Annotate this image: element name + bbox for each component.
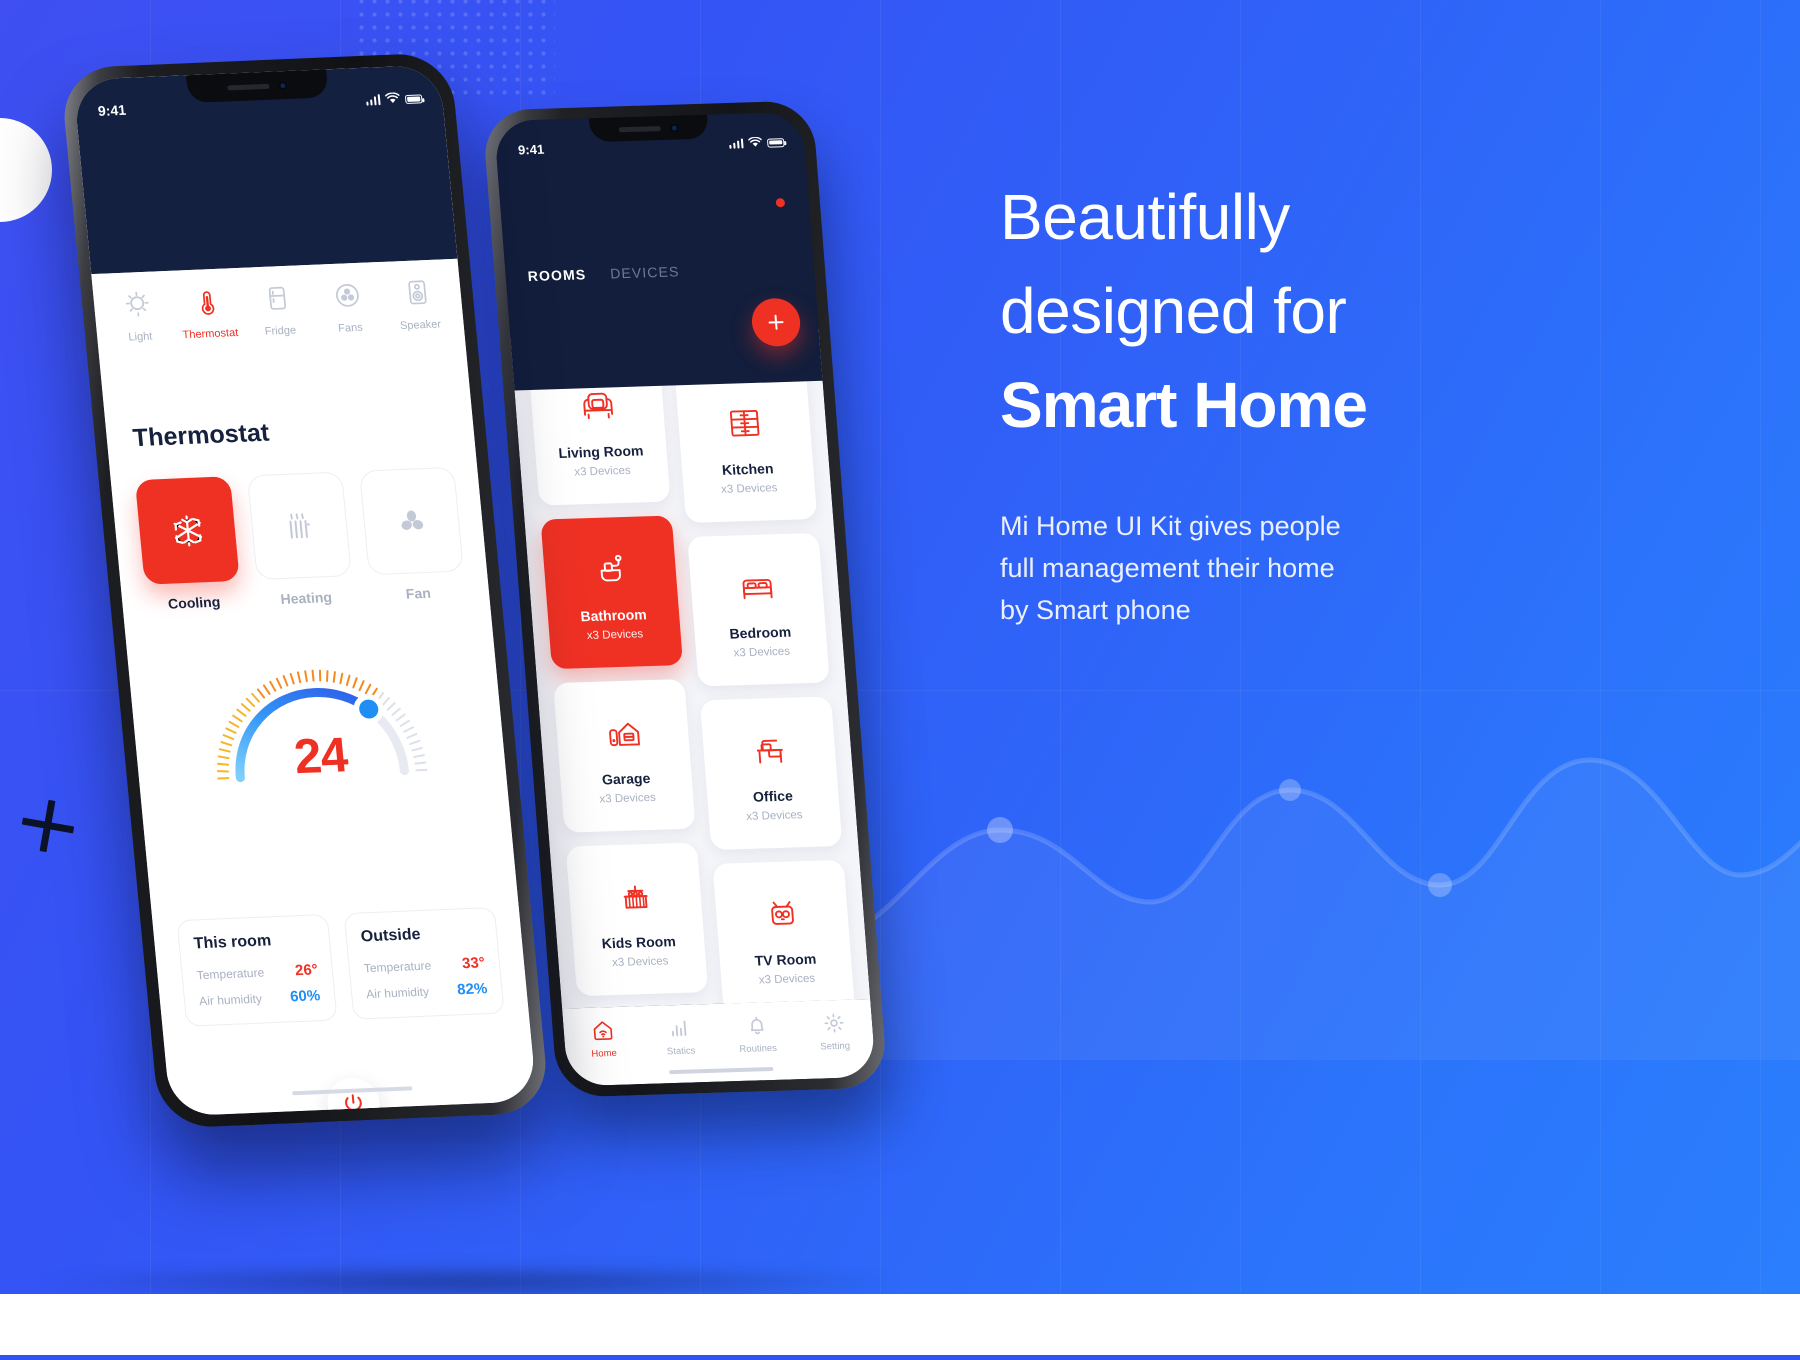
room-device-count: x3 Devices bbox=[746, 809, 803, 823]
room-card-bathroom[interactable]: Bathroomx3 Devices bbox=[540, 515, 683, 669]
room-name: TV Room bbox=[754, 951, 817, 969]
cabinet-icon bbox=[722, 397, 766, 450]
nav-item-home[interactable]: Home bbox=[563, 1016, 643, 1060]
info-row: Temperature26° bbox=[196, 961, 319, 983]
tv-icon bbox=[760, 887, 804, 940]
environment-cards: This roomTemperature26°Air humidity60%Ou… bbox=[176, 907, 504, 1027]
info-card-outside: OutsideTemperature33°Air humidity82% bbox=[344, 907, 505, 1020]
power-icon bbox=[341, 1092, 365, 1115]
room-name: Bathroom bbox=[580, 606, 647, 624]
marketing-copy: Beautifully designed for Smart Home Mi H… bbox=[1000, 170, 1560, 632]
mode-fan[interactable]: Fan bbox=[359, 467, 467, 603]
temperature-value: 24 bbox=[292, 727, 350, 785]
battery-icon bbox=[405, 94, 423, 104]
headline-line-1: Beautifully bbox=[1000, 170, 1560, 264]
subtext-line-1: Mi Home UI Kit gives people bbox=[1000, 506, 1560, 548]
garage-icon bbox=[601, 706, 645, 759]
info-row: Air humidity82% bbox=[365, 980, 488, 1002]
cellular-bars-icon bbox=[728, 138, 743, 148]
mode-label: Fan bbox=[370, 583, 467, 603]
room-device-count: x3 Devices bbox=[733, 646, 790, 660]
thermostat-body: Thermostat CoolingHeatingFan bbox=[102, 368, 537, 1116]
tab-rooms[interactable]: ROOMS bbox=[527, 266, 587, 284]
device-tab-fridge[interactable]: Fridge bbox=[240, 277, 316, 339]
room-name: Living Room bbox=[558, 442, 644, 461]
nav-item-setting[interactable]: Setting bbox=[794, 1009, 874, 1053]
device-tab-label: Thermostat bbox=[175, 327, 246, 342]
marketing-subtext: Mi Home UI Kit gives people full managem… bbox=[1000, 506, 1560, 632]
room-device-count: x3 Devices bbox=[574, 465, 631, 479]
info-card-title: This room bbox=[193, 930, 316, 953]
wifi-icon bbox=[748, 136, 763, 147]
room-card-tv-room[interactable]: TV Roomx3 Devices bbox=[712, 860, 855, 1009]
bottom-navigation: HomeStaticsRoutinesSetting bbox=[562, 999, 876, 1086]
info-key: Air humidity bbox=[199, 992, 263, 1009]
room-card-kitchen[interactable]: Kitchenx3 Devices bbox=[675, 369, 818, 523]
device-tab-fans[interactable]: Fans bbox=[311, 274, 387, 336]
desk-icon bbox=[747, 724, 791, 777]
device-tab-label: Light bbox=[105, 330, 176, 345]
info-row: Temperature33° bbox=[363, 954, 486, 976]
thermometer-icon bbox=[170, 280, 244, 323]
device-tab-thermostat[interactable]: Thermostat bbox=[170, 280, 246, 342]
notch-right bbox=[589, 115, 709, 143]
mode-selector: CoolingHeatingFan bbox=[135, 467, 466, 613]
wifi-icon bbox=[385, 92, 401, 105]
room-name: Office bbox=[752, 788, 793, 805]
room-device-count: x3 Devices bbox=[721, 482, 778, 496]
home-wifi-icon bbox=[563, 1016, 642, 1044]
subtext-line-2: full management their home bbox=[1000, 548, 1560, 590]
screen-home: 9:41 Home bbox=[494, 112, 876, 1087]
nav-item-routines[interactable]: Routines bbox=[717, 1011, 797, 1055]
room-card-office[interactable]: Officex3 Devices bbox=[700, 696, 843, 850]
device-tab-label: Fans bbox=[315, 321, 386, 336]
snowflake-icon bbox=[135, 476, 240, 585]
room-card-kids-room[interactable]: Kids Roomx3 Devices bbox=[566, 843, 709, 997]
power-button[interactable] bbox=[325, 1077, 382, 1117]
info-card-this-room: This roomTemperature26°Air humidity60% bbox=[176, 914, 337, 1027]
wave-decoration bbox=[820, 640, 1800, 1060]
plus-icon bbox=[766, 313, 785, 332]
nav-item-label: Routines bbox=[719, 1042, 797, 1055]
fridge-icon bbox=[240, 277, 314, 320]
info-row: Air humidity60% bbox=[198, 987, 321, 1009]
fan-blades-icon bbox=[359, 467, 464, 576]
nav-item-label: Statics bbox=[642, 1045, 720, 1058]
rooms-grid: Living Roomx3 DevicesKitchenx3 DevicesBa… bbox=[511, 329, 871, 1009]
status-icons-right bbox=[728, 136, 784, 149]
room-device-count: x3 Devices bbox=[612, 955, 669, 969]
device-tab-light[interactable]: Light bbox=[100, 283, 176, 345]
info-value: 26° bbox=[294, 961, 318, 979]
radiator-icon bbox=[247, 472, 352, 581]
bell-icon bbox=[717, 1011, 796, 1039]
gear-icon bbox=[794, 1009, 873, 1037]
room-name: Bedroom bbox=[729, 624, 792, 642]
room-device-count: x3 Devices bbox=[758, 973, 815, 987]
nav-item-statics[interactable]: Statics bbox=[640, 1014, 720, 1058]
info-card-title: Outside bbox=[360, 923, 483, 946]
bathtub-icon bbox=[588, 543, 632, 596]
info-key: Temperature bbox=[196, 966, 265, 983]
nav-item-label: Setting bbox=[796, 1040, 874, 1053]
mode-label: Cooling bbox=[146, 593, 243, 613]
bottom-accent-line bbox=[0, 1355, 1800, 1360]
room-card-garage[interactable]: Garagex3 Devices bbox=[553, 679, 696, 833]
room-device-count: x3 Devices bbox=[599, 792, 656, 806]
section-title: Thermostat bbox=[132, 419, 271, 454]
room-name: Garage bbox=[601, 770, 651, 787]
bar-chart-icon bbox=[640, 1014, 719, 1042]
speaker-icon bbox=[381, 271, 455, 314]
temperature-gauge: 24 − + bbox=[125, 617, 510, 831]
battery-icon bbox=[767, 138, 785, 148]
cellular-bars-icon bbox=[365, 94, 381, 106]
speaker-grill-icon bbox=[619, 126, 661, 132]
mode-label: Heating bbox=[258, 588, 355, 608]
mode-cooling[interactable]: Cooling bbox=[135, 476, 243, 612]
bottom-white-strip bbox=[0, 1294, 1800, 1360]
info-key: Air humidity bbox=[366, 985, 430, 1002]
info-value: 60% bbox=[289, 987, 321, 1005]
headline-line-3: Smart Home bbox=[1000, 358, 1560, 452]
info-value: 33° bbox=[461, 954, 485, 972]
room-device-count: x3 Devices bbox=[586, 628, 643, 642]
device-tab-label: Speaker bbox=[385, 318, 456, 333]
info-key: Temperature bbox=[363, 959, 432, 976]
status-icons-left bbox=[365, 91, 423, 105]
room-name: Kids Room bbox=[601, 933, 676, 951]
info-value: 82% bbox=[456, 980, 488, 998]
subtext-line-3: by Smart phone bbox=[1000, 590, 1560, 632]
bed-icon bbox=[735, 560, 779, 613]
room-card-bedroom[interactable]: Bedroomx3 Devices bbox=[687, 533, 830, 687]
status-time-left: 9:41 bbox=[97, 102, 127, 119]
status-time-right: 9:41 bbox=[517, 141, 544, 157]
device-tab-speaker[interactable]: Speaker bbox=[381, 271, 457, 333]
plus-decoration-icon bbox=[22, 800, 74, 852]
tab-devices[interactable]: DEVICES bbox=[610, 263, 680, 281]
fan-icon bbox=[311, 274, 385, 317]
crib-icon bbox=[613, 870, 657, 923]
lightbulb-icon bbox=[100, 283, 174, 326]
room-name: Kitchen bbox=[721, 460, 774, 478]
headline-line-2: designed for bbox=[1000, 264, 1560, 358]
mode-heating[interactable]: Heating bbox=[247, 472, 355, 608]
front-camera-icon bbox=[669, 123, 679, 132]
nav-item-label: Home bbox=[565, 1047, 643, 1060]
device-tab-label: Fridge bbox=[245, 324, 316, 339]
device-tabs: LightThermostatFridgeFansSpeaker bbox=[91, 259, 468, 384]
